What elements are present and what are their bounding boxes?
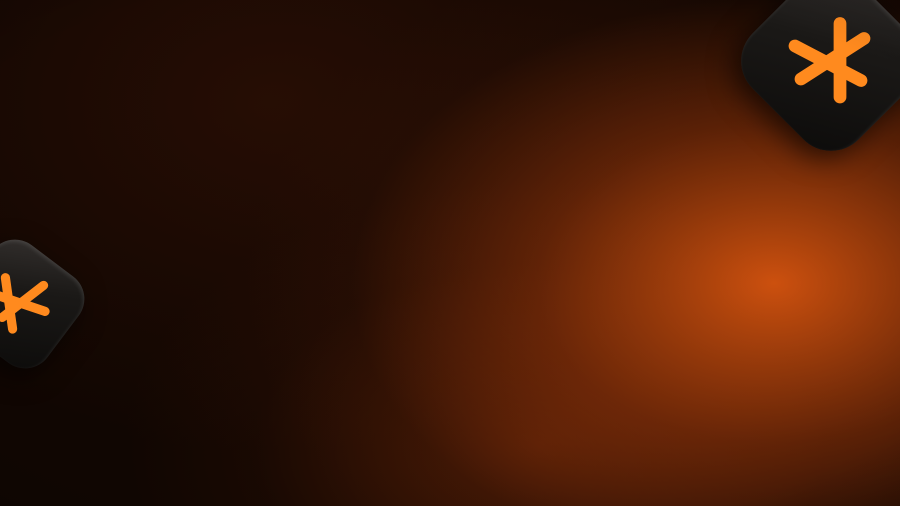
legend-swatch-1-5 — [465, 150, 486, 171]
legend-item-1-5[interactable] — [465, 150, 495, 171]
app-store-icon — [0, 243, 81, 365]
chart-x-axis — [136, 436, 814, 496]
app-store-icon — [756, 0, 900, 136]
slide-root — [0, 0, 900, 506]
legend-swatch-6-10 — [405, 150, 426, 171]
chart-legend — [0, 150, 900, 171]
app-store-icon-glyph — [756, 0, 900, 136]
chart-plot-area — [136, 196, 814, 434]
app-store-icon-glyph — [0, 243, 81, 365]
legend-item-6-10[interactable] — [405, 150, 435, 171]
stacked-bar-chart — [108, 196, 814, 446]
